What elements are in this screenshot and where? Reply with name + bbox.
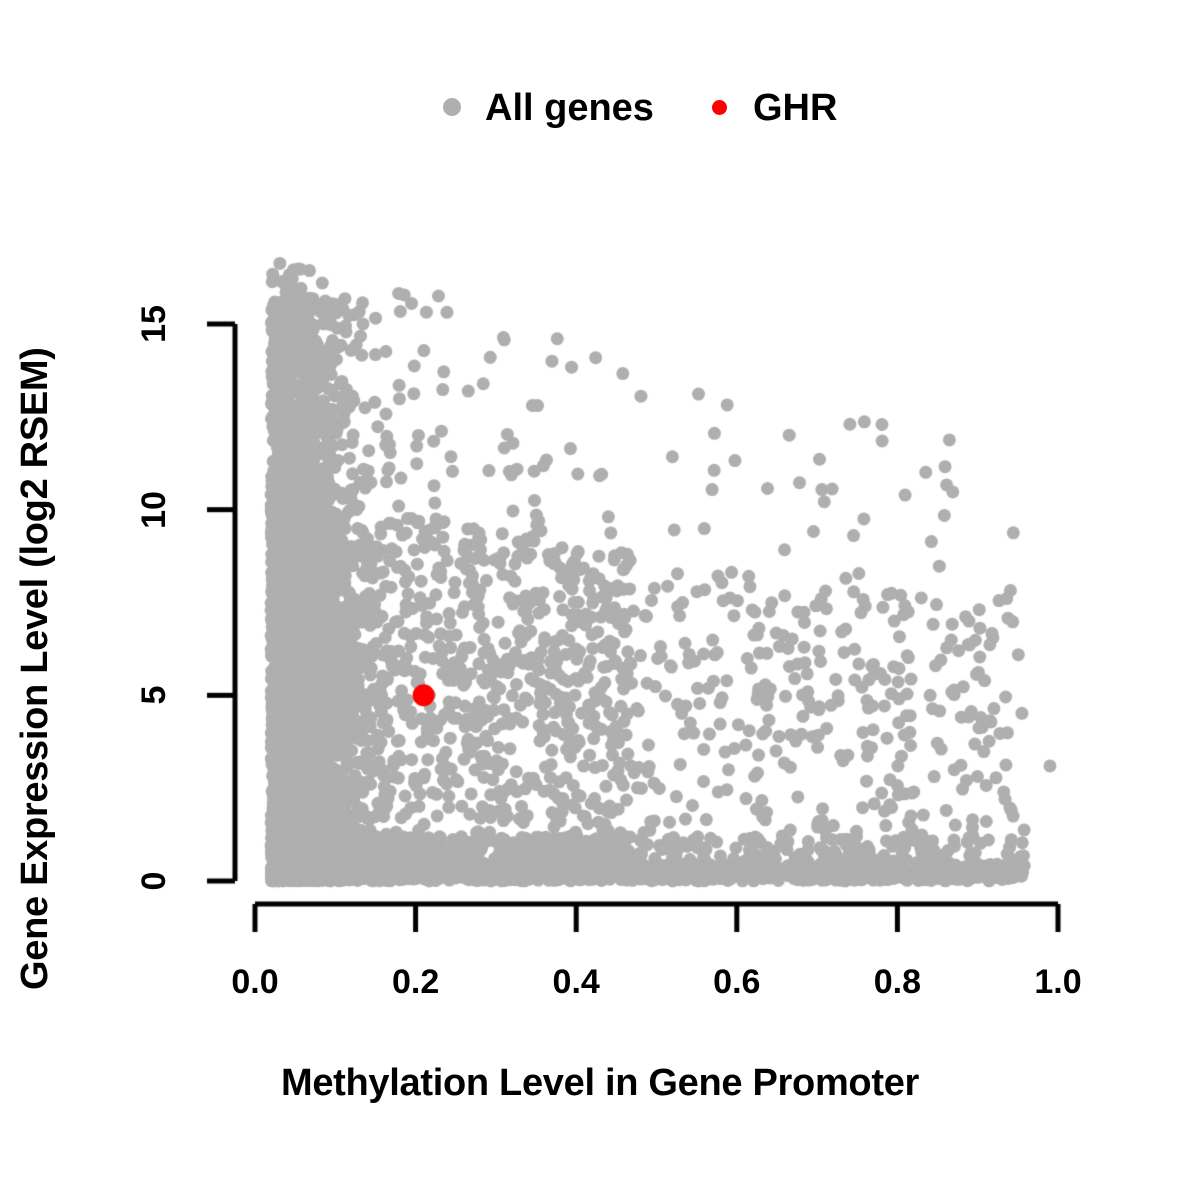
legend-marker-ghr <box>712 100 727 115</box>
x-tick-label: 1.0 <box>1034 963 1081 1002</box>
y-tick-label: 0 <box>135 872 174 891</box>
legend-label-all-genes: All genes <box>485 87 654 130</box>
x-tick-label: 0.0 <box>231 963 278 1002</box>
scatter-plot-canvas <box>0 0 1200 1200</box>
x-tick-label: 0.6 <box>713 963 760 1002</box>
y-tick-label: 10 <box>135 491 174 529</box>
x-tick-label: 0.4 <box>553 963 600 1002</box>
x-axis-title: Methylation Level in Gene Promoter <box>0 1062 1200 1105</box>
y-tick-label: 15 <box>135 305 174 343</box>
y-axis-title: Gene Expression Level (log2 RSEM) <box>14 347 57 990</box>
y-tick-label: 5 <box>135 686 174 705</box>
legend-marker-all-genes <box>443 98 461 116</box>
scatter-plot-figure: All genes GHR Methylation Level in Gene … <box>0 0 1200 1200</box>
x-tick-label: 0.8 <box>874 963 921 1002</box>
x-tick-label: 0.2 <box>392 963 439 1002</box>
legend-label-ghr: GHR <box>753 87 837 130</box>
